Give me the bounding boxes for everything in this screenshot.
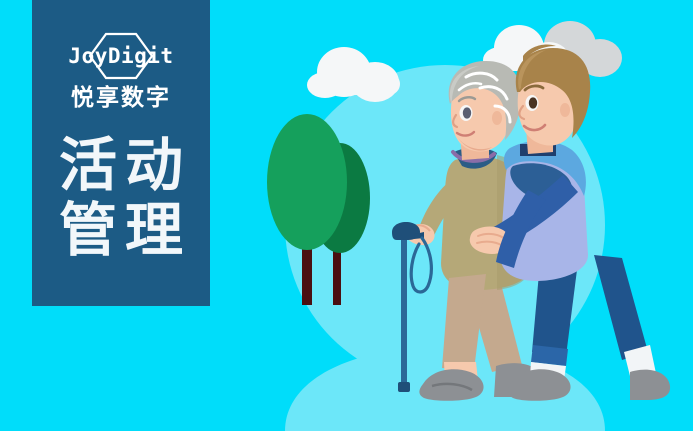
branding-panel: JoyDigit 悦享数字 活动 管理	[32, 0, 210, 306]
logo-chinese-name: 悦享数字	[71, 86, 171, 111]
poster-canvas: JoyDigit 悦享数字 活动 管理	[0, 0, 693, 431]
logo-block: JoyDigit 悦享数字	[46, 30, 196, 111]
logo-mark: JoyDigit	[46, 30, 196, 82]
title-line-2: 管理	[51, 198, 191, 263]
logo-wordmark: JoyDigit	[46, 30, 196, 82]
poster-title: 活动 管理	[51, 133, 191, 263]
title-line-1: 活动	[51, 133, 191, 198]
